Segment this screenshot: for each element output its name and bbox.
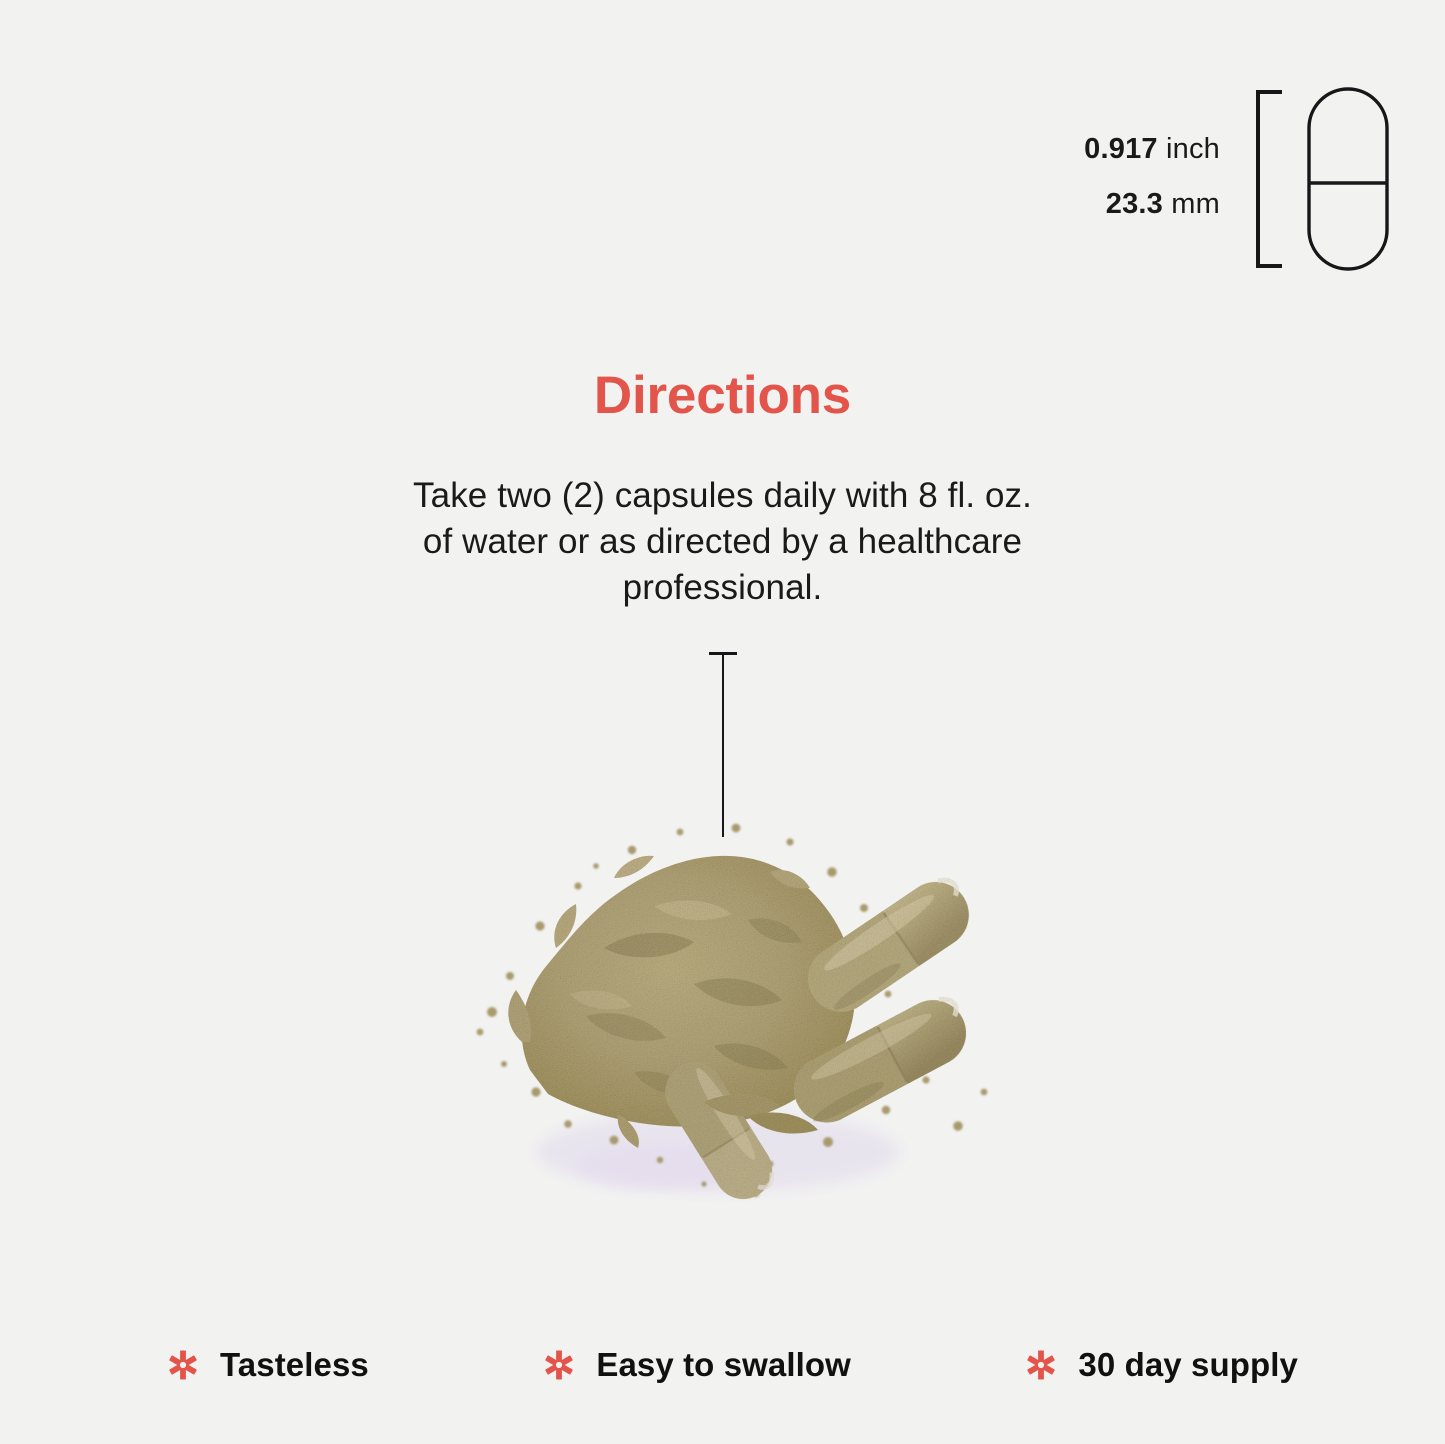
infographic-canvas: 0.917 inch 23.3 mm Directions Take two (… <box>0 0 1445 1444</box>
feature-label: Tasteless <box>220 1348 369 1381</box>
asterisk-icon <box>168 1350 198 1380</box>
directions-line-3: professional. <box>343 565 1103 611</box>
size-mm-unit: mm <box>1171 188 1220 220</box>
page-title: Directions <box>0 366 1445 427</box>
capsule-size-indicator: 0.917 inch 23.3 mm <box>1020 84 1390 274</box>
feature-label: 30 day supply <box>1078 1348 1298 1381</box>
capsules-and-powder-photo <box>418 780 1038 1210</box>
feature-item-30-day-supply: 30 day supply <box>1026 1348 1298 1381</box>
size-labels: 0.917 inch 23.3 mm <box>1084 135 1220 223</box>
feature-item-easy-to-swallow: Easy to swallow <box>544 1348 851 1381</box>
measurement-bracket-icon <box>1254 90 1284 268</box>
capsule-outline-icon <box>1306 86 1390 272</box>
size-mm-line: 23.3 mm <box>1106 190 1220 219</box>
size-inch-line: 0.917 inch <box>1084 135 1220 164</box>
directions-line-1: Take two (2) capsules daily with 8 fl. o… <box>343 473 1103 519</box>
size-mm-value: 23.3 <box>1106 188 1163 220</box>
feature-list: Tasteless Easy to swallow <box>168 1348 1298 1381</box>
size-inch-unit: inch <box>1166 133 1220 165</box>
size-inch-value: 0.917 <box>1084 133 1158 165</box>
asterisk-icon <box>1026 1350 1056 1380</box>
feature-item-tasteless: Tasteless <box>168 1348 369 1381</box>
directions-text: Take two (2) capsules daily with 8 fl. o… <box>343 473 1103 612</box>
feature-label: Easy to swallow <box>596 1348 851 1381</box>
asterisk-icon <box>544 1350 574 1380</box>
directions-line-2: of water or as directed by a healthcare <box>343 519 1103 565</box>
